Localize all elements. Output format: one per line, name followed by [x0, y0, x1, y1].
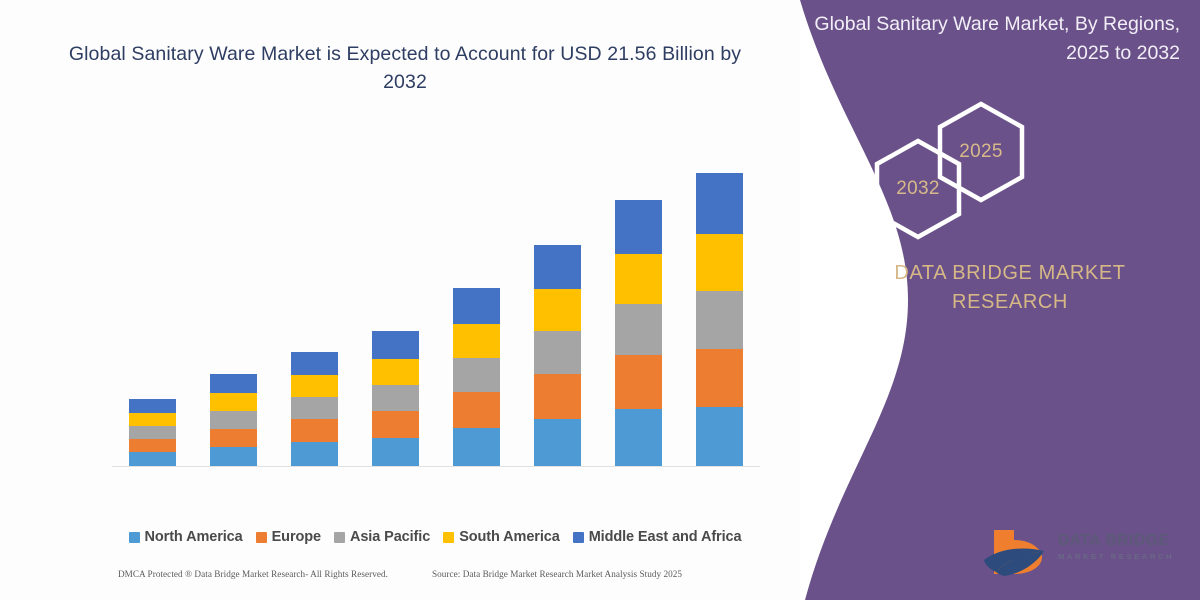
- bar-group: [436, 288, 517, 466]
- data-bridge-logo: DATA BRIDGE MARKET RESEARCH: [980, 524, 1190, 582]
- stacked-bar: [534, 245, 581, 466]
- legend-label: Europe: [272, 529, 321, 545]
- legend-item[interactable]: Middle East and Africa: [573, 529, 742, 545]
- bar-segment: [453, 324, 500, 358]
- bar-segment: [129, 452, 176, 466]
- bar-segment: [129, 399, 176, 413]
- bar-segment: [210, 411, 257, 429]
- bar-group: [355, 331, 436, 466]
- infographic-root: Global Sanitary Ware Market is Expected …: [0, 0, 1200, 600]
- bar-group: [112, 399, 193, 466]
- chart-title: Global Sanitary Ware Market is Expected …: [60, 40, 750, 97]
- chart-legend: North AmericaEuropeAsia PacificSouth Ame…: [100, 529, 770, 545]
- bar-segment: [372, 359, 419, 385]
- stacked-bar: [453, 288, 500, 466]
- stacked-bar: [291, 352, 338, 466]
- brand-panel: Global Sanitary Ware Market, By Regions,…: [780, 0, 1200, 600]
- legend-swatch: [129, 532, 140, 543]
- bar-segment: [534, 289, 581, 331]
- stacked-bar: [696, 173, 743, 466]
- footer: DMCA Protected ® Data Bridge Market Rese…: [0, 569, 800, 579]
- legend-swatch: [573, 532, 584, 543]
- bar-segment: [453, 392, 500, 428]
- bar-segment: [453, 288, 500, 324]
- chart-plot-area: 20252026202720282029203020312032: [112, 140, 760, 467]
- bar-segment: [372, 331, 419, 359]
- bar-segment: [534, 419, 581, 466]
- footer-source-text: Source: Data Bridge Market Research Mark…: [432, 569, 682, 579]
- bar-group: [598, 200, 679, 466]
- legend-swatch: [256, 532, 267, 543]
- chart-panel: Global Sanitary Ware Market is Expected …: [0, 0, 800, 600]
- hexagon-badge-2032-label: 2032: [896, 178, 939, 200]
- legend-item[interactable]: North America: [129, 529, 243, 545]
- bar-segment: [129, 439, 176, 452]
- bar-segment: [615, 355, 662, 409]
- logo-primary-text: DATA BRIDGE: [1058, 532, 1190, 549]
- brand-panel-title: Global Sanitary Ware Market, By Regions,…: [808, 10, 1180, 69]
- hexagon-badge-2025-label: 2025: [959, 141, 1002, 163]
- bar-segment: [372, 438, 419, 466]
- data-bridge-logo-mark-icon: [980, 524, 1054, 580]
- legend-item[interactable]: South America: [443, 529, 560, 545]
- footer-dmca-text: DMCA Protected ® Data Bridge Market Rese…: [118, 569, 388, 579]
- bar-segment: [129, 426, 176, 439]
- bar-segment: [696, 349, 743, 407]
- stacked-bar: [615, 200, 662, 466]
- bar-segment: [615, 409, 662, 466]
- stacked-bar: [129, 399, 176, 466]
- bar-group: [679, 173, 760, 466]
- legend-label: Asia Pacific: [350, 529, 430, 545]
- brand-name-text: DATA BRIDGE MARKET RESEARCH: [840, 259, 1180, 317]
- stacked-bar: [372, 331, 419, 466]
- legend-swatch: [334, 532, 345, 543]
- legend-item[interactable]: Europe: [256, 529, 321, 545]
- bar-segment: [696, 173, 743, 234]
- legend-item[interactable]: Asia Pacific: [334, 529, 430, 545]
- logo-secondary-text: MARKET RESEARCH: [1058, 552, 1190, 561]
- bar-segment: [372, 385, 419, 411]
- bar-group: [274, 352, 355, 466]
- bar-segment: [291, 375, 338, 397]
- bar-segment: [291, 419, 338, 442]
- bar-segment: [210, 374, 257, 393]
- bar-segment: [534, 245, 581, 289]
- bar-segment: [696, 234, 743, 291]
- bar-segment: [372, 411, 419, 438]
- bar-segment: [615, 200, 662, 254]
- bar-segment: [291, 397, 338, 419]
- x-axis-line: [112, 466, 760, 467]
- bar-segment: [534, 374, 581, 419]
- legend-label: Middle East and Africa: [589, 529, 742, 545]
- bar-segment: [534, 331, 581, 374]
- bar-segment: [210, 447, 257, 466]
- bar-segment: [291, 442, 338, 466]
- bar-segment: [696, 291, 743, 349]
- bar-segment: [696, 407, 743, 466]
- bar-segment: [210, 429, 257, 447]
- legend-label: North America: [145, 529, 243, 545]
- bar-segment: [615, 304, 662, 355]
- bar-segment: [210, 393, 257, 411]
- legend-swatch: [443, 532, 454, 543]
- bar-segment: [453, 428, 500, 466]
- bar-segment: [129, 413, 176, 426]
- bar-group: [517, 245, 598, 466]
- stacked-bar: [210, 374, 257, 466]
- legend-label: South America: [459, 529, 560, 545]
- bar-segment: [453, 358, 500, 392]
- data-bridge-logo-text: DATA BRIDGE MARKET RESEARCH: [1058, 532, 1190, 561]
- bar-group: [193, 374, 274, 466]
- hexagon-badge-2025: 2025: [935, 100, 1027, 204]
- bar-segment: [291, 352, 338, 375]
- bar-segment: [615, 254, 662, 304]
